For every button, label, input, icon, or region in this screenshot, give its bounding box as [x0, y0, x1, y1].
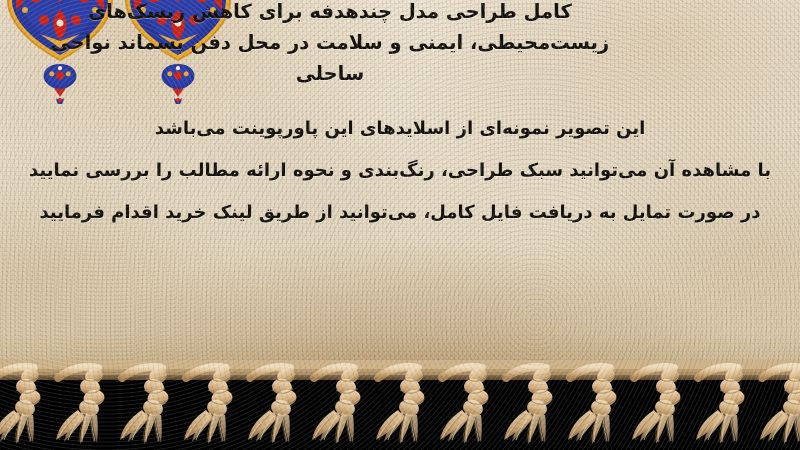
bottom-black-band: [0, 372, 800, 450]
title-line-3: ساحلی: [10, 58, 650, 89]
title-line-1: کامل طراحی مدل چندهدفه برای کاهش ریسک‌ها…: [10, 0, 650, 27]
slide-body-text: این تصویر نمونه‌ای از اسلایدهای این پاور…: [0, 108, 800, 234]
body-line-1: این تصویر نمونه‌ای از اسلایدهای این پاور…: [0, 108, 800, 150]
body-line-3: در صورت تمایل به دریافت فایل کامل، می‌تو…: [0, 192, 800, 234]
slide-text-layer: کامل طراحی مدل چندهدفه برای کاهش ریسک‌ها…: [0, 0, 800, 378]
title-line-2: زیست‌محیطی، ایمنی و سلامت در محل دفن پسم…: [10, 27, 650, 58]
page-title: کامل طراحی مدل چندهدفه برای کاهش ریسک‌ها…: [0, 0, 800, 89]
slide-canvas: کامل طراحی مدل چندهدفه برای کاهش ریسک‌ها…: [0, 0, 800, 450]
body-line-2: با مشاهده آن می‌توانید سبک طراحی، رنگ‌بن…: [0, 150, 800, 192]
